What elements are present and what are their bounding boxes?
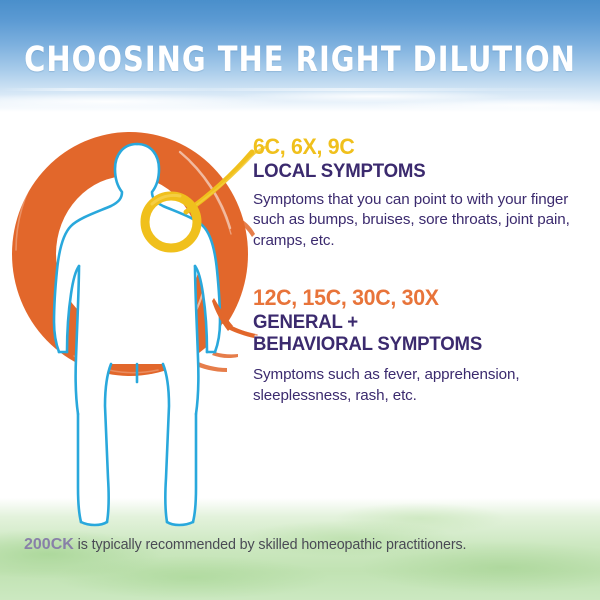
symptom-heading-general-line1: GENERAL + <box>253 312 358 333</box>
cloud-wisp <box>0 86 600 112</box>
content-column: 6C, 6X, 9C LOCAL SYMPTOMS Symptoms that … <box>253 134 583 420</box>
yellow-highlight-circle <box>145 195 197 248</box>
dilution-values-general: 12C, 15C, 30C, 30X <box>253 285 573 311</box>
dilution-block-general: 12C, 15C, 30C, 30X GENERAL + BEHAVIORAL … <box>253 285 583 406</box>
symptom-heading-general: GENERAL + BEHAVIORAL SYMPTOMS <box>253 312 576 356</box>
infographic-poster: CHOOSING THE RIGHT DILUTION <box>0 0 600 600</box>
dilution-block-local: 6C, 6X, 9C LOCAL SYMPTOMS Symptoms that … <box>253 134 583 251</box>
symptom-description-local: Symptoms that you can point to with your… <box>253 190 583 251</box>
yellow-pointer-group <box>130 136 270 266</box>
footer-accent-200ck: 200CK <box>24 536 74 553</box>
footer-note-text: is typically recommended by skilled home… <box>74 537 467 553</box>
page-title: CHOOSING THE RIGHT DILUTION <box>24 41 576 79</box>
footer-note: 200CK is typically recommended by skille… <box>24 535 584 555</box>
dilution-values-local: 6C, 6X, 9C <box>253 134 573 160</box>
symptom-description-general: Symptoms such as fever, apprehension, sl… <box>253 365 583 406</box>
symptom-heading-general-line2: BEHAVIORAL SYMPTOMS <box>253 334 482 355</box>
symptom-heading-local: LOCAL SYMPTOMS <box>253 161 576 183</box>
